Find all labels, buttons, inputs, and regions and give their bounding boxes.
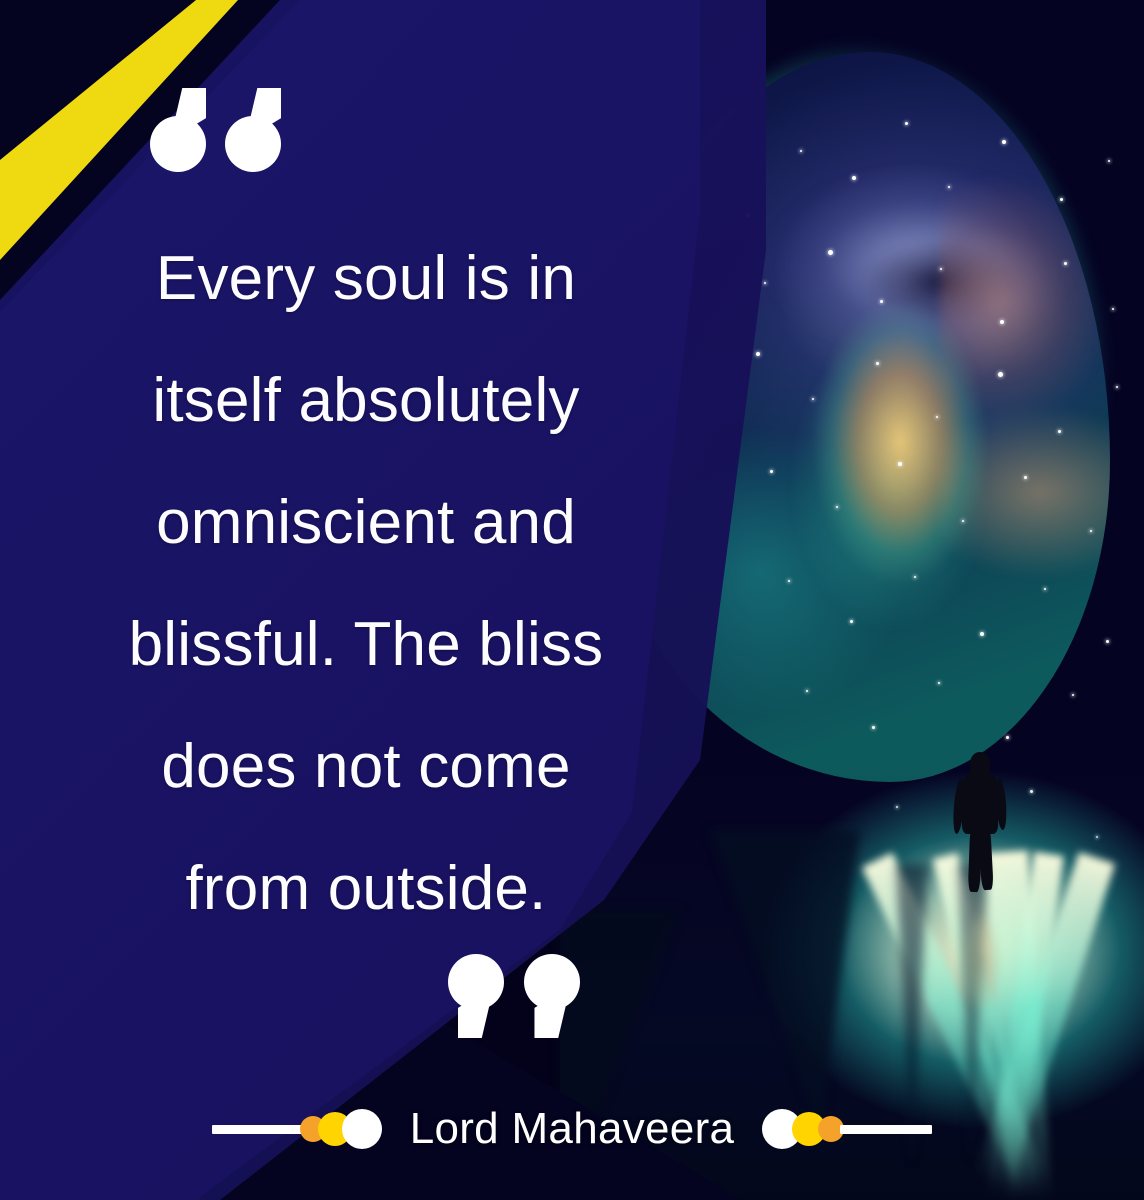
ornament-line-right <box>840 1125 932 1134</box>
walking-man-reflection <box>948 888 1012 1016</box>
quote-line: Every soul is in <box>64 218 668 340</box>
quote-glyph-left-a <box>150 88 206 174</box>
ornament-line-left <box>212 1125 304 1134</box>
quote-glyph-right-a <box>448 952 504 1038</box>
quote-line: does not come <box>64 706 668 828</box>
man-torso <box>962 772 998 834</box>
ray-shadow <box>710 830 860 1130</box>
ornament-right <box>762 1109 932 1149</box>
quote-line: itself absolutely <box>64 340 668 462</box>
man-leg-right <box>978 826 993 891</box>
quote-glyph-right-b <box>524 952 580 1038</box>
quote-glyph-left-b <box>225 88 281 174</box>
walking-man-silhouette <box>952 752 1008 892</box>
quote-line: omniscient and <box>64 462 668 584</box>
quote-line: from outside. <box>64 828 668 950</box>
ornament-dot-white-left <box>342 1109 382 1149</box>
closing-quote-mark <box>448 952 596 1038</box>
quote-line: blissful. The bliss <box>64 584 668 706</box>
opening-quote-mark <box>150 88 295 174</box>
ornament-left <box>212 1109 382 1149</box>
attribution-name: Lord Mahaveera <box>410 1104 735 1154</box>
quote-text: Every soul is in itself absolutely omnis… <box>64 218 668 950</box>
attribution-bar: Lord Mahaveera <box>0 1092 1144 1166</box>
quote-poster: Every soul is in itself absolutely omnis… <box>0 0 1144 1200</box>
